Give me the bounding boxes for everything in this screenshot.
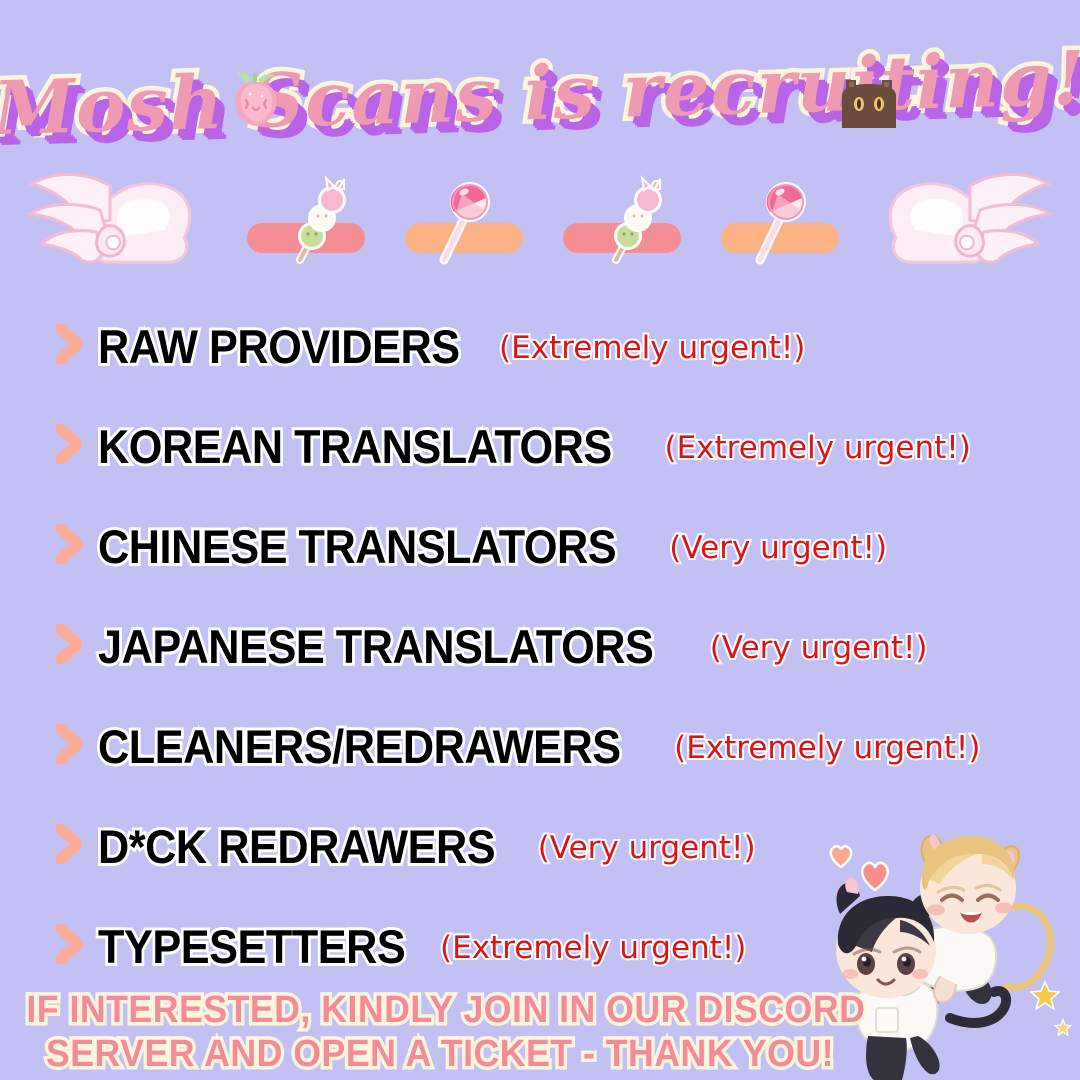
winged-cloud-icon — [886, 162, 1066, 282]
role-name: CLEANERS/REDRAWERS — [98, 719, 621, 774]
chevron-right-icon — [56, 524, 82, 564]
list-item: CHINESE TRANSLATORS (Very urgent!) — [0, 496, 1080, 596]
role-urgency: (Extremely urgent!) — [665, 430, 971, 466]
page-title: Mosh Scans is recruiting! — [0, 36, 1080, 152]
lollipop-icon — [432, 174, 494, 266]
cat-head-icon — [838, 72, 900, 128]
chevron-right-icon — [56, 324, 82, 364]
role-name: D*CK REDRAWERS — [98, 819, 495, 874]
role-name: TYPESETTERS — [98, 919, 405, 974]
footer-line-2: SERVER AND OPEN A TICKET - THANK YOU! — [26, 1032, 853, 1076]
list-item: KOREAN TRANSLATORS (Extremely urgent!) — [0, 396, 1080, 496]
role-urgency: (Very urgent!) — [669, 530, 887, 566]
role-name: JAPANESE TRANSLATORS — [98, 619, 653, 674]
footer-line-1: IF INTERESTED, KINDLY JOIN IN OUR DISCOR… — [26, 988, 853, 1032]
chevron-right-icon — [56, 624, 82, 664]
recruitment-poster: Mosh Scans is recruiting! — [0, 0, 1080, 1080]
dango-skewer-icon — [288, 174, 354, 266]
role-urgency: (Extremely urgent!) — [674, 730, 980, 766]
strawberry-icon — [228, 70, 284, 128]
list-item: RAW PROVIDERS (Extremely urgent!) — [0, 296, 1080, 396]
star-icon — [1054, 1018, 1072, 1036]
footer-callout: IF INTERESTED, KINDLY JOIN IN OUR DISCOR… — [0, 988, 880, 1076]
role-urgency: (Extremely urgent!) — [440, 930, 746, 966]
list-item: JAPANESE TRANSLATORS (Very urgent!) — [0, 596, 1080, 696]
decorative-divider — [0, 160, 1080, 290]
role-urgency: (Very urgent!) — [710, 630, 928, 666]
dango-skewer-icon — [604, 174, 670, 266]
role-name: KOREAN TRANSLATORS — [98, 419, 612, 474]
star-icon — [1030, 980, 1060, 1010]
chevron-right-icon — [56, 424, 82, 464]
role-name: RAW PROVIDERS — [98, 319, 460, 374]
role-urgency: (Extremely urgent!) — [499, 330, 805, 366]
role-urgency: (Very urgent!) — [538, 830, 756, 866]
heart-icon — [858, 860, 892, 892]
role-name: CHINESE TRANSLATORS — [98, 519, 616, 574]
lollipop-icon — [748, 174, 810, 266]
chevron-right-icon — [56, 824, 82, 864]
title-area: Mosh Scans is recruiting! — [0, 34, 1080, 154]
heart-icon — [828, 844, 854, 868]
chevron-right-icon — [56, 724, 82, 764]
list-item: CLEANERS/REDRAWERS (Extremely urgent!) — [0, 696, 1080, 796]
chevron-right-icon — [56, 924, 82, 964]
winged-cloud-icon — [14, 162, 194, 282]
